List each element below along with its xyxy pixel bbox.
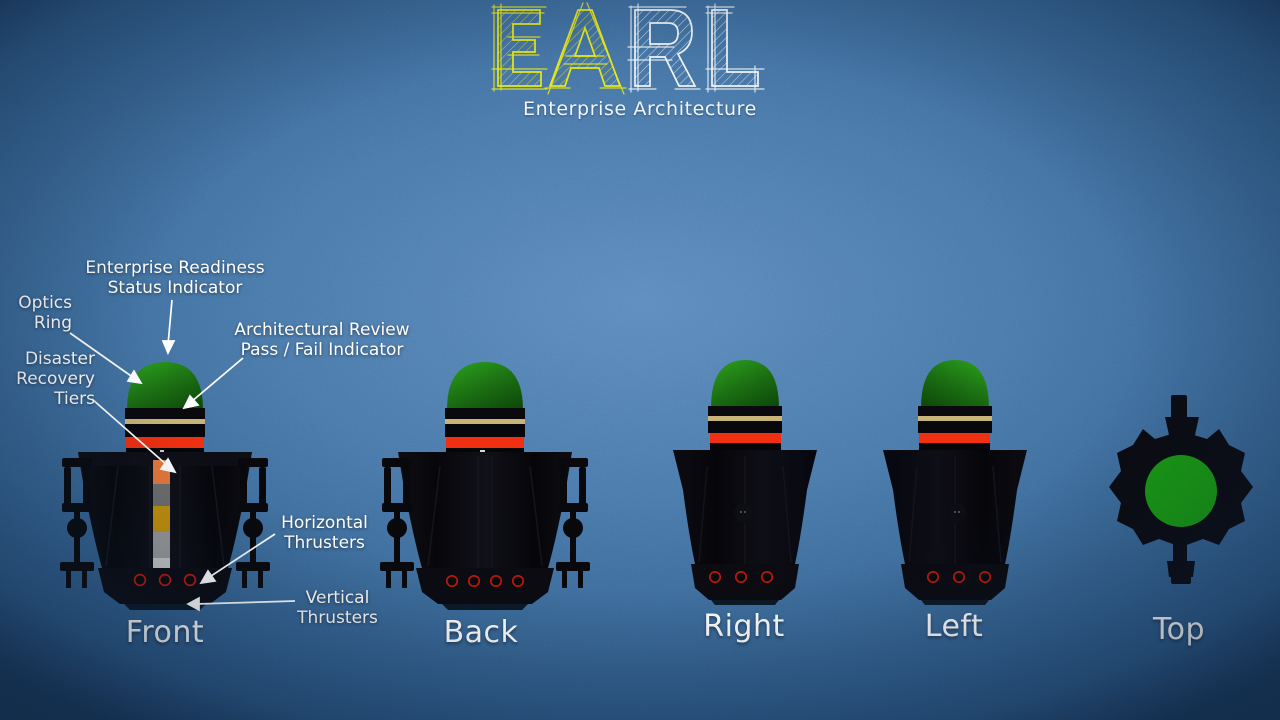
disaster-recovery-tiers [153, 460, 170, 582]
horizontal-thrusters-right [710, 572, 772, 582]
review-indicator-band [919, 433, 990, 443]
earl-logo [490, 2, 790, 100]
readiness-dome [447, 362, 523, 410]
side-port [734, 503, 752, 523]
annotation-horizontal-thrusters: Horizontal Thrusters [272, 513, 377, 553]
optics-ring-band [445, 419, 525, 425]
robot-head-back [445, 362, 525, 459]
slide-canvas: Enterprise Architecture [0, 0, 1280, 720]
logo-letter-E [492, 4, 547, 91]
horizontal-thrusters-front [135, 575, 196, 586]
annotation-architectural-review: Architectural Review Pass / Fail Indicat… [222, 320, 422, 360]
horizontal-thrusters-left [928, 572, 990, 582]
optics-ring-band [918, 416, 992, 421]
view-back [360, 340, 610, 610]
review-indicator-band [710, 433, 781, 443]
view-label-back: Back [411, 618, 551, 648]
logo-letter-R [628, 4, 700, 92]
annotation-vertical-thrusters: Vertical Thrusters [285, 588, 390, 628]
review-indicator-band [126, 437, 204, 448]
view-right [655, 340, 835, 605]
vertical-thrusters-front [124, 604, 206, 610]
robot-head-right [708, 360, 782, 451]
annotation-enterprise-readiness: Enterprise Readiness Status Indicator [80, 258, 270, 298]
robot-head-front [125, 362, 205, 458]
side-port [948, 503, 966, 523]
view-label-front: Front [95, 618, 235, 648]
robot-head-left [918, 360, 992, 451]
view-label-top: Top [1109, 615, 1249, 645]
slide-subtitle: Enterprise Architecture [0, 98, 1280, 120]
robot-torso-back [398, 452, 572, 568]
view-left [865, 340, 1045, 605]
title-block: Enterprise Architecture [0, 0, 1280, 132]
head-collar-lower [125, 424, 205, 437]
readiness-dome [127, 362, 203, 410]
annotation-optics-ring: Optics Ring [0, 293, 72, 333]
arm-left-front [60, 458, 94, 588]
optics-ring-band [708, 416, 782, 421]
readiness-dome-top [1145, 455, 1217, 527]
view-label-right: Right [674, 612, 814, 642]
arm-right-front [236, 458, 270, 588]
view-label-left: Left [884, 612, 1024, 642]
logo-letter-L [706, 4, 764, 92]
readiness-dome [711, 360, 779, 408]
readiness-dome [921, 360, 989, 408]
review-indicator-band [446, 437, 524, 448]
annotation-disaster-recovery-tiers: Disaster Recovery Tiers [0, 349, 95, 409]
head-collar-upper [125, 408, 205, 419]
view-top [1095, 395, 1270, 605]
optics-ring-band [125, 419, 205, 425]
logo-letter-A [545, 3, 626, 94]
arm-right-back [556, 458, 590, 588]
arm-left-back [380, 458, 414, 588]
